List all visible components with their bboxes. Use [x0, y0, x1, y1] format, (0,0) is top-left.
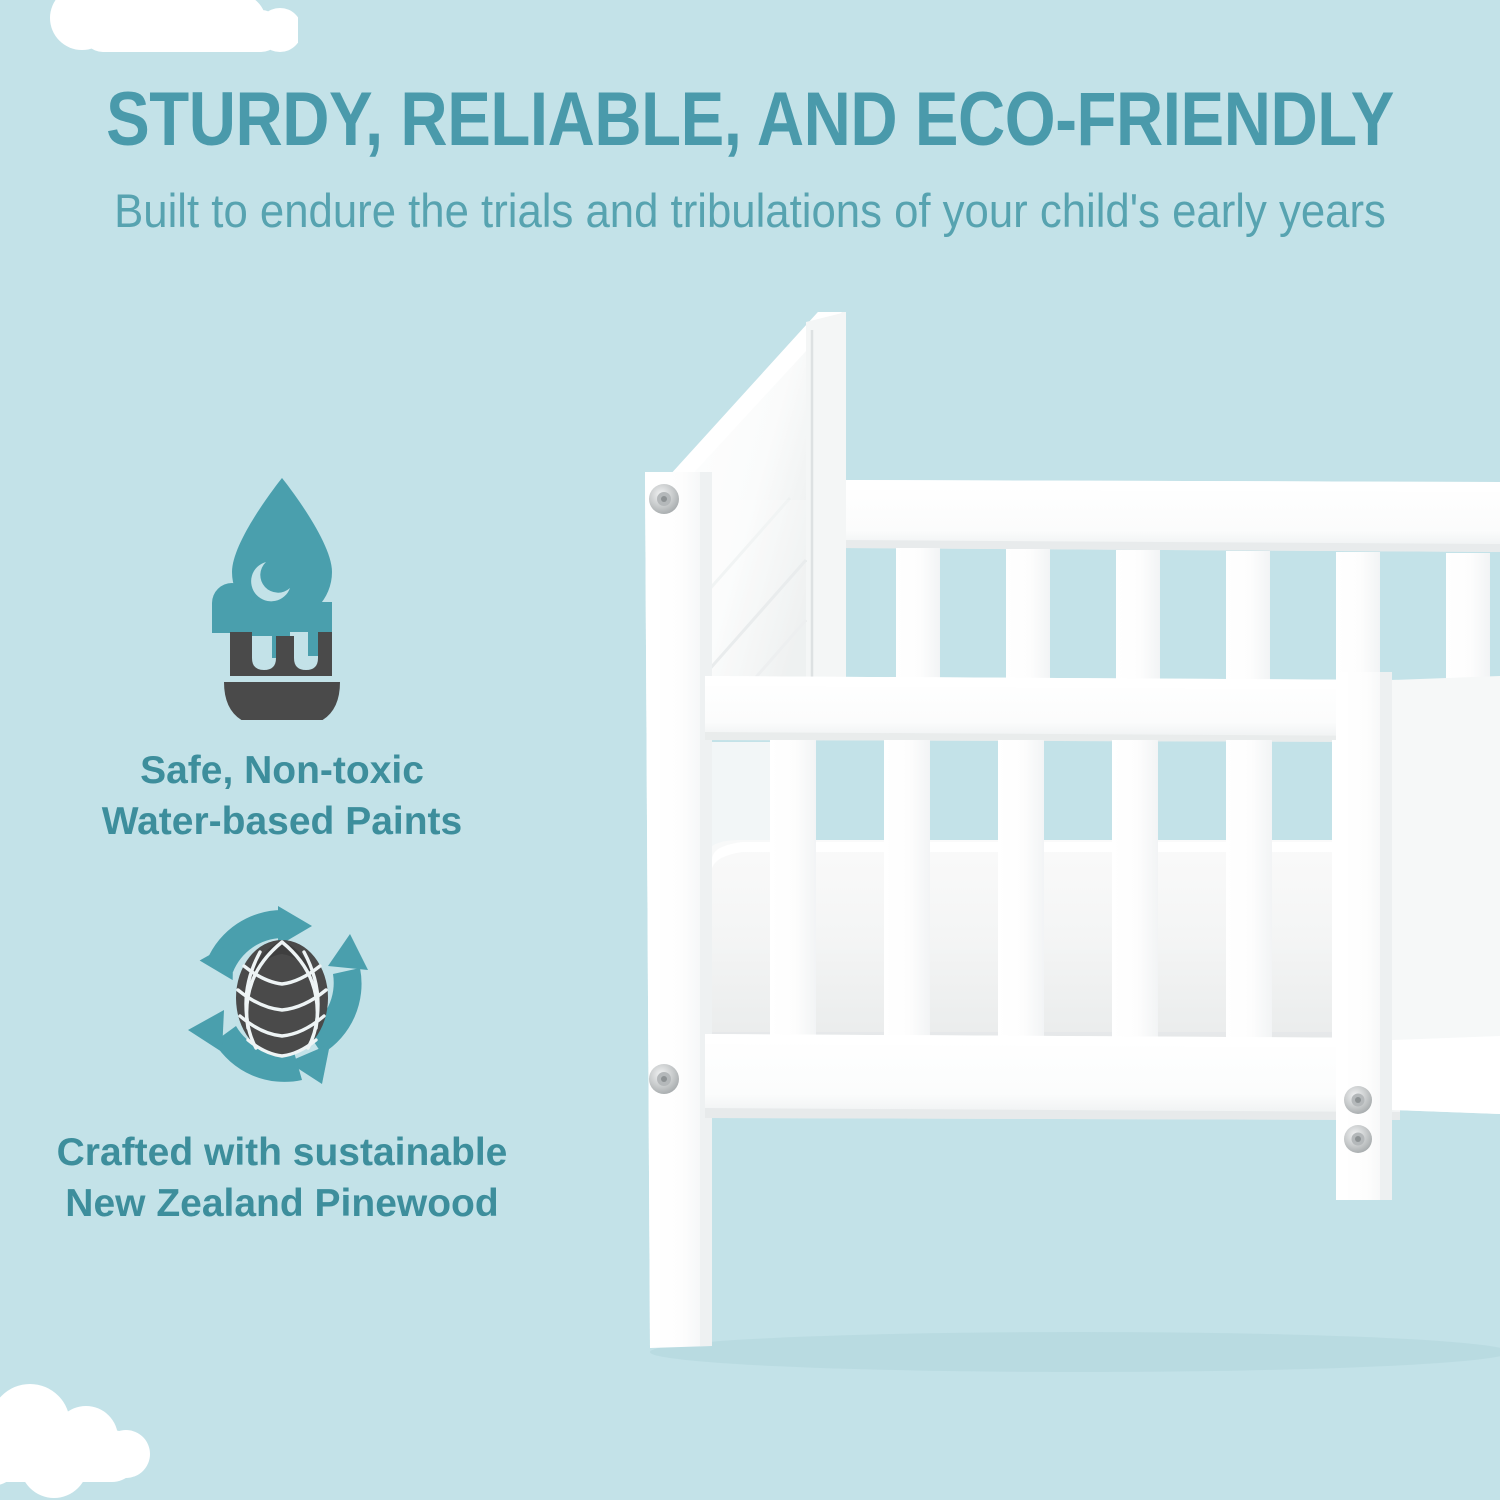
mattress — [705, 840, 1500, 1050]
headboard-panel — [660, 312, 846, 700]
screw-cap — [649, 484, 679, 514]
feature-label: Crafted with sustainable New Zealand Pin… — [22, 1128, 542, 1229]
feature-sustainable-pinewood: Crafted with sustainable New Zealand Pin… — [22, 892, 542, 1229]
feature-label: Safe, Non-toxic Water-based Paints — [22, 746, 542, 847]
page-subtitle: Built to endure the trials and tribulati… — [53, 186, 1448, 237]
feature-safe-paints: Safe, Non-toxic Water-based Paints — [22, 470, 542, 847]
screw-cap — [1344, 1086, 1372, 1114]
marketing-banner: STURDY, RELIABLE, AND ECO-FRIENDLY Built… — [0, 0, 1500, 1500]
pinecone-shape — [236, 940, 328, 1056]
page-title: STURDY, RELIABLE, AND ECO-FRIENDLY — [105, 82, 1395, 158]
paintbrush-droplet-icon — [192, 470, 372, 720]
screw-cap — [649, 1064, 679, 1094]
screw-cap — [1344, 1125, 1372, 1153]
upper-rail-slats — [896, 548, 1490, 705]
upper-guardrail — [840, 480, 1500, 552]
left-leg-post — [645, 472, 712, 1348]
lower-guardrail-bottom-bar — [705, 1034, 1400, 1120]
cloud-top-left — [48, 0, 298, 68]
lower-rail-slats — [770, 740, 1378, 1040]
recycle-pinecone-icon — [182, 892, 382, 1102]
screw-caps — [649, 484, 1372, 1153]
right-corner-post — [1336, 672, 1500, 1200]
cloud-bottom-left — [0, 1372, 198, 1500]
lower-guardrail-top-bar — [705, 676, 1400, 742]
